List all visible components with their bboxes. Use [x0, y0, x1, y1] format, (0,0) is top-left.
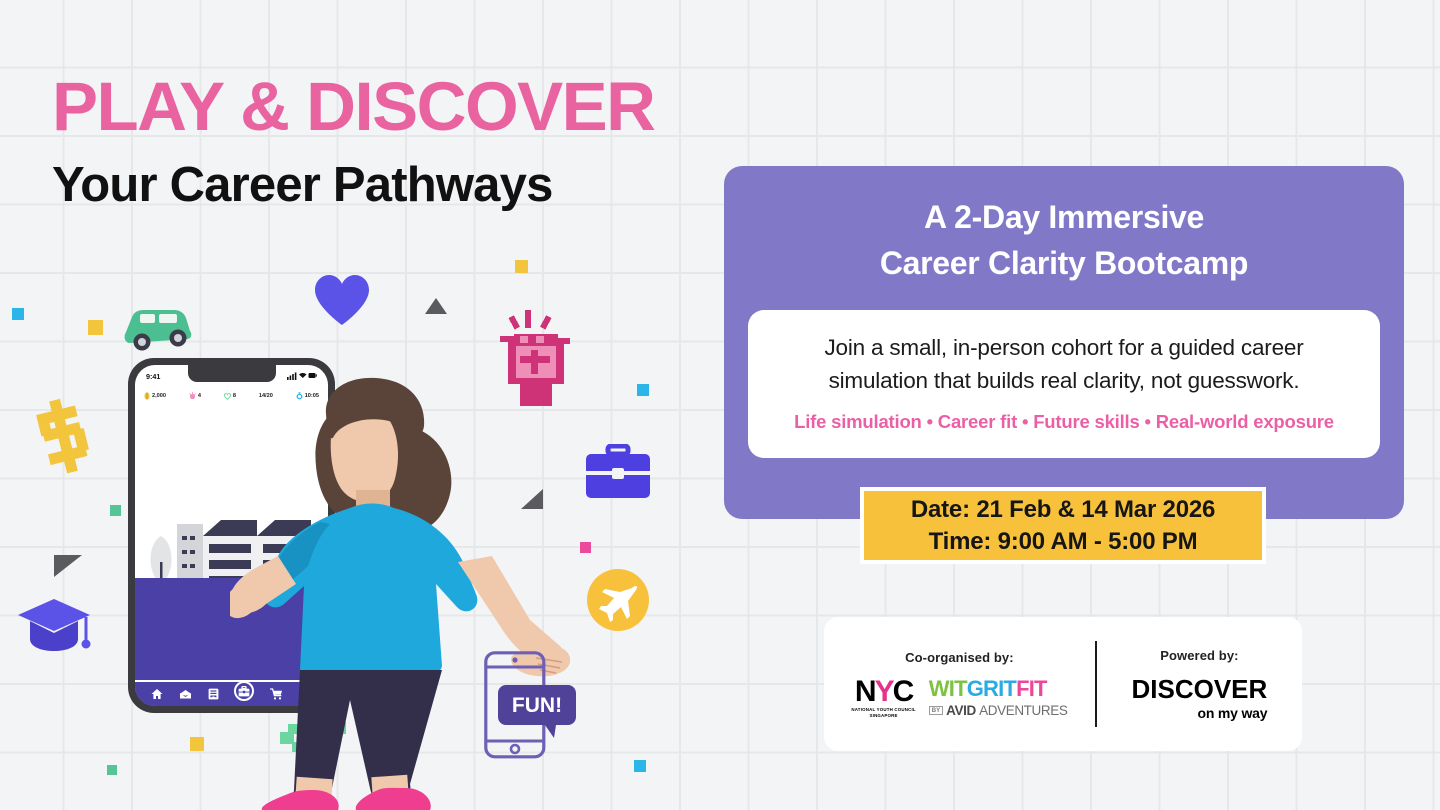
heart-icon: [312, 273, 372, 332]
briefcase-icon: [584, 444, 652, 507]
triangle-icon: [52, 553, 84, 584]
graduation-cap-icon: [16, 595, 92, 662]
feature-tags: Life simulation • Career fit • Future sk…: [772, 411, 1356, 433]
witgritfit-wordmark: WITGRITFIT: [929, 678, 1047, 700]
book-icon[interactable]: [208, 688, 219, 700]
square-pink-icon: [580, 542, 591, 553]
witgritfit-logo: WITGRITFIT BY AVID ADVENTURES: [929, 678, 1068, 718]
home-icon[interactable]: [151, 688, 163, 700]
square-cyan-icon: [637, 384, 649, 396]
nyc-wordmark: NYC: [855, 678, 912, 705]
illustration-stage: 9:41 2,000 4: [0, 0, 720, 810]
square-yellow-icon: [88, 320, 103, 335]
powered-by-caption: Powered by:: [1160, 648, 1238, 663]
discover-tagline: on my way: [1198, 705, 1268, 721]
card-heading-line1: A 2-Day Immersive: [724, 194, 1404, 240]
witgritfit-avid: AVID ADVENTURES: [946, 703, 1067, 718]
co-organised-column: Co-organised by: NYC NATIONAL YOUTH COUN…: [824, 650, 1095, 719]
nyc-logo: NYC NATIONAL YOUTH COUNCIL SINGAPORE: [851, 678, 915, 719]
square-yellow-icon: [190, 737, 204, 751]
square-cyan-icon: [634, 760, 646, 772]
time-line: Time: 9:00 AM - 5:00 PM: [929, 526, 1198, 558]
date-time-badge: Date: 21 Feb & 14 Mar 2026 Time: 9:00 AM…: [860, 487, 1266, 564]
co-organised-caption: Co-organised by:: [905, 650, 1014, 665]
dollar-icon: [32, 395, 96, 482]
square-green-icon: [107, 765, 117, 775]
discover-logo: DISCOVER on my way: [1132, 676, 1268, 721]
card-heading-line2: Career Clarity Bootcamp: [724, 240, 1404, 286]
card-heading: A 2-Day Immersive Career Clarity Bootcam…: [724, 166, 1404, 287]
fun-bubble-text: FUN!: [512, 694, 562, 717]
discover-wordmark: DISCOVER: [1132, 676, 1268, 702]
stat-coin: 2,000: [144, 392, 166, 400]
powered-by-column: Powered by: DISCOVER on my way: [1097, 648, 1302, 721]
date-line: Date: 21 Feb & 14 Mar 2026: [911, 494, 1215, 526]
square-cyan-icon: [12, 308, 24, 320]
witgritfit-by-tag: BY: [929, 706, 943, 715]
mail-icon[interactable]: [179, 689, 192, 700]
square-yellow-icon: [515, 260, 528, 273]
description-panel: Join a small, in-person cohort for a gui…: [748, 310, 1380, 458]
triangle-icon: [424, 296, 448, 321]
square-green-icon: [110, 505, 121, 516]
airplane-icon: [586, 568, 650, 637]
fun-phone-icon: FUN!: [484, 651, 576, 759]
logo-bar: Co-organised by: NYC NATIONAL YOUTH COUN…: [824, 617, 1302, 751]
status-time: 9:41: [146, 372, 160, 381]
info-card: A 2-Day Immersive Career Clarity Bootcam…: [724, 166, 1404, 519]
description-text: Join a small, in-person cohort for a gui…: [772, 332, 1356, 397]
nyc-subtitle: NATIONAL YOUTH COUNCIL SINGAPORE: [851, 707, 915, 719]
stat-energy: 4: [189, 392, 201, 400]
car-icon: [118, 305, 196, 358]
